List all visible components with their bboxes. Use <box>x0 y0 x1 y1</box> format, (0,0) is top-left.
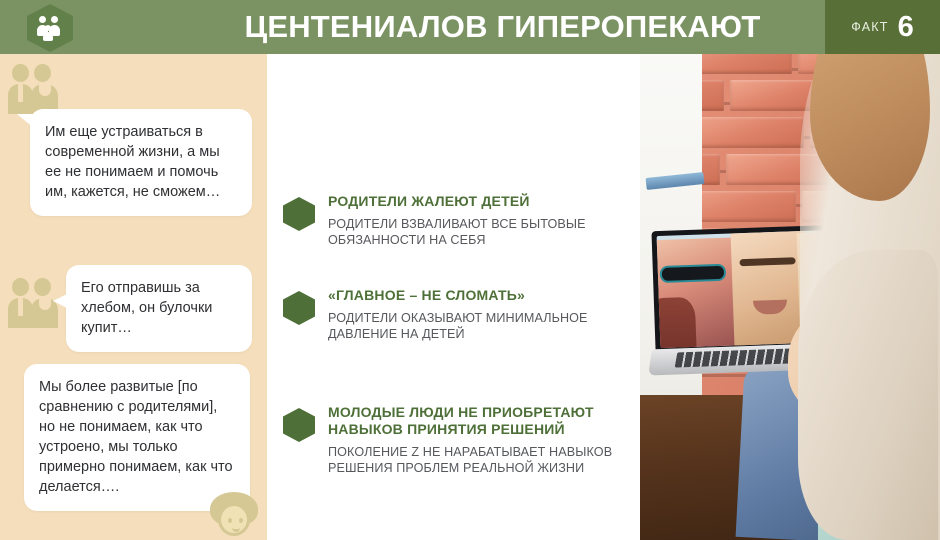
quotes-sidebar: Им еще устраиваться в современной жизни,… <box>0 54 267 540</box>
quote-bubble-3: Мы более развитые [по сравнению с родите… <box>24 364 250 511</box>
point-title: РОДИТЕЛИ ЖАЛЕЮТ ДЕТЕЙ <box>328 193 628 210</box>
slide: ЦЕНТЕНИАЛОВ ГИПЕРОПЕКАЮТ ФАКТ 6 Им еще у… <box>0 0 940 540</box>
eyebrows <box>739 257 795 266</box>
quote-text: Его отправишь за хлебом, он булочки купи… <box>81 280 212 336</box>
bubble-tail <box>17 114 41 134</box>
hexagon-bullet-icon <box>283 197 315 231</box>
sweater-sleeve <box>798 250 938 540</box>
family-group-glyph <box>37 16 63 40</box>
point-description: ПОКОЛЕНИЕ Z НЕ НАРАБАТЫВАЕТ НАВЫКОВ РЕШЕ… <box>328 444 628 476</box>
point-title: «ГЛАВНОЕ – НЕ СЛОМАТЬ» <box>328 287 628 304</box>
point-item: РОДИТЕЛИ ЖАЛЕЮТ ДЕТЕЙ РОДИТЕЛИ ВЗВАЛИВАЮ… <box>283 193 628 248</box>
point-description: РОДИТЕЛИ ВЗВАЛИВАЮТ ВСЕ БЫТОВЫЕ ОБЯЗАННО… <box>328 216 628 248</box>
point-item: «ГЛАВНОЕ – НЕ СЛОМАТЬ» РОДИТЕЛИ ОКАЗЫВАЮ… <box>283 287 628 342</box>
sunglasses-icon <box>660 264 727 283</box>
point-title: МОЛОДЫЕ ЛЮДИ НЕ ПРИОБРЕТАЮТ НАВЫКОВ ПРИН… <box>328 404 628 438</box>
child-face-icon <box>209 492 259 540</box>
video-participant-1 <box>657 237 743 348</box>
fact-number: 6 <box>898 13 914 42</box>
red-hair <box>657 297 698 348</box>
quote-text: Мы более развитые [по сравнению с родите… <box>39 379 233 495</box>
point-text: РОДИТЕЛИ ЖАЛЕЮТ ДЕТЕЙ РОДИТЕЛИ ВЗВАЛИВАЮ… <box>328 193 628 248</box>
quote-text: Им еще устраиваться в современной жизни,… <box>45 124 220 200</box>
photo-video-call <box>640 0 940 540</box>
fact-label: ФАКТ <box>851 20 888 34</box>
hexagon-bullet-icon <box>283 408 315 442</box>
fact-badge: ФАКТ 6 <box>825 0 940 54</box>
bubble-tail <box>53 291 73 311</box>
quote-bubble-1: Им еще устраиваться в современной жизни,… <box>30 109 252 216</box>
page-title: ЦЕНТЕНИАЛОВ ГИПЕРОПЕКАЮТ <box>190 0 815 54</box>
main-content: РОДИТЕЛИ ЖАЛЕЮТ ДЕТЕЙ РОДИТЕЛИ ВЗВАЛИВАЮ… <box>267 54 640 540</box>
point-text: «ГЛАВНОЕ – НЕ СЛОМАТЬ» РОДИТЕЛИ ОКАЗЫВАЮ… <box>328 287 628 342</box>
family-group-icon <box>27 4 73 52</box>
point-description: РОДИТЕЛИ ОКАЗЫВАЮТ МИНИМАЛЬНОЕ ДАВЛЕНИЕ … <box>328 310 628 342</box>
mouth <box>753 300 787 315</box>
quote-bubble-2: Его отправишь за хлебом, он булочки купи… <box>66 265 252 352</box>
parents-couple-icon <box>8 62 62 114</box>
point-text: МОЛОДЫЕ ЛЮДИ НЕ ПРИОБРЕТАЮТ НАВЫКОВ ПРИН… <box>328 404 628 476</box>
header-bar: ЦЕНТЕНИАЛОВ ГИПЕРОПЕКАЮТ ФАКТ 6 <box>0 0 940 54</box>
point-item: МОЛОДЫЕ ЛЮДИ НЕ ПРИОБРЕТАЮТ НАВЫКОВ ПРИН… <box>283 404 628 476</box>
hexagon-bullet-icon <box>283 291 315 325</box>
